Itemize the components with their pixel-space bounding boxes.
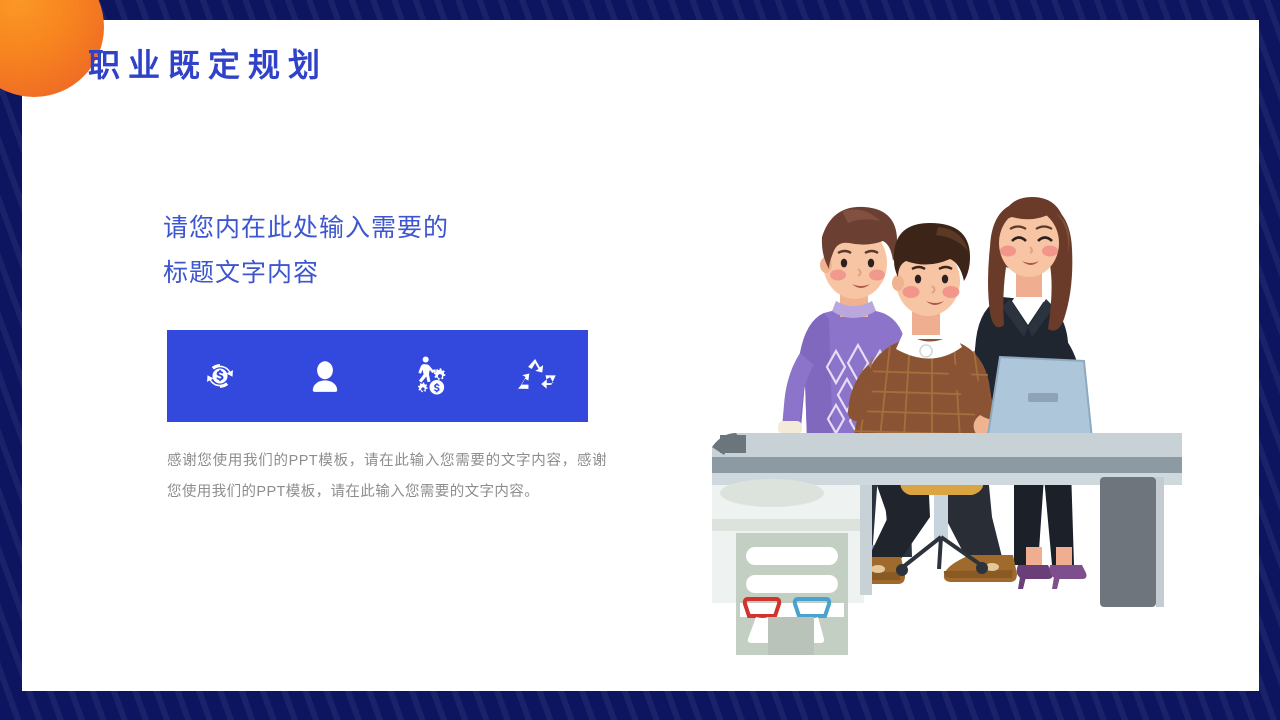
body-paragraph: 感谢您使用我们的PPT模板，请在此输入您需要的文字内容，感谢您使用我们的PPT模… bbox=[167, 446, 607, 508]
money-cycle-icon[interactable] bbox=[197, 353, 243, 399]
recycle-icon[interactable] bbox=[512, 353, 558, 399]
headline-line-1: 请您内在此处输入需要的 bbox=[163, 206, 611, 251]
computer-tower bbox=[1100, 477, 1164, 607]
headline-block: 请您内在此处输入需要的 标题文字内容 bbox=[163, 206, 611, 296]
headline-line-2: 标题文字内容 bbox=[163, 251, 611, 296]
left-content-column: 请您内在此处输入需要的 标题文字内容 bbox=[141, 206, 611, 523]
slide-root: 请您内在此处输入需要的 标题文字内容 bbox=[0, 0, 1280, 720]
office-team-illustration bbox=[712, 185, 1182, 655]
icon-bar bbox=[167, 330, 588, 422]
slide-canvas: 请您内在此处输入需要的 标题文字内容 bbox=[22, 20, 1259, 691]
user-person-icon[interactable] bbox=[302, 353, 348, 399]
page-title: 职业既定规划 bbox=[88, 40, 328, 86]
water-cooler bbox=[736, 533, 848, 655]
person-gears-money-icon[interactable] bbox=[407, 353, 453, 399]
